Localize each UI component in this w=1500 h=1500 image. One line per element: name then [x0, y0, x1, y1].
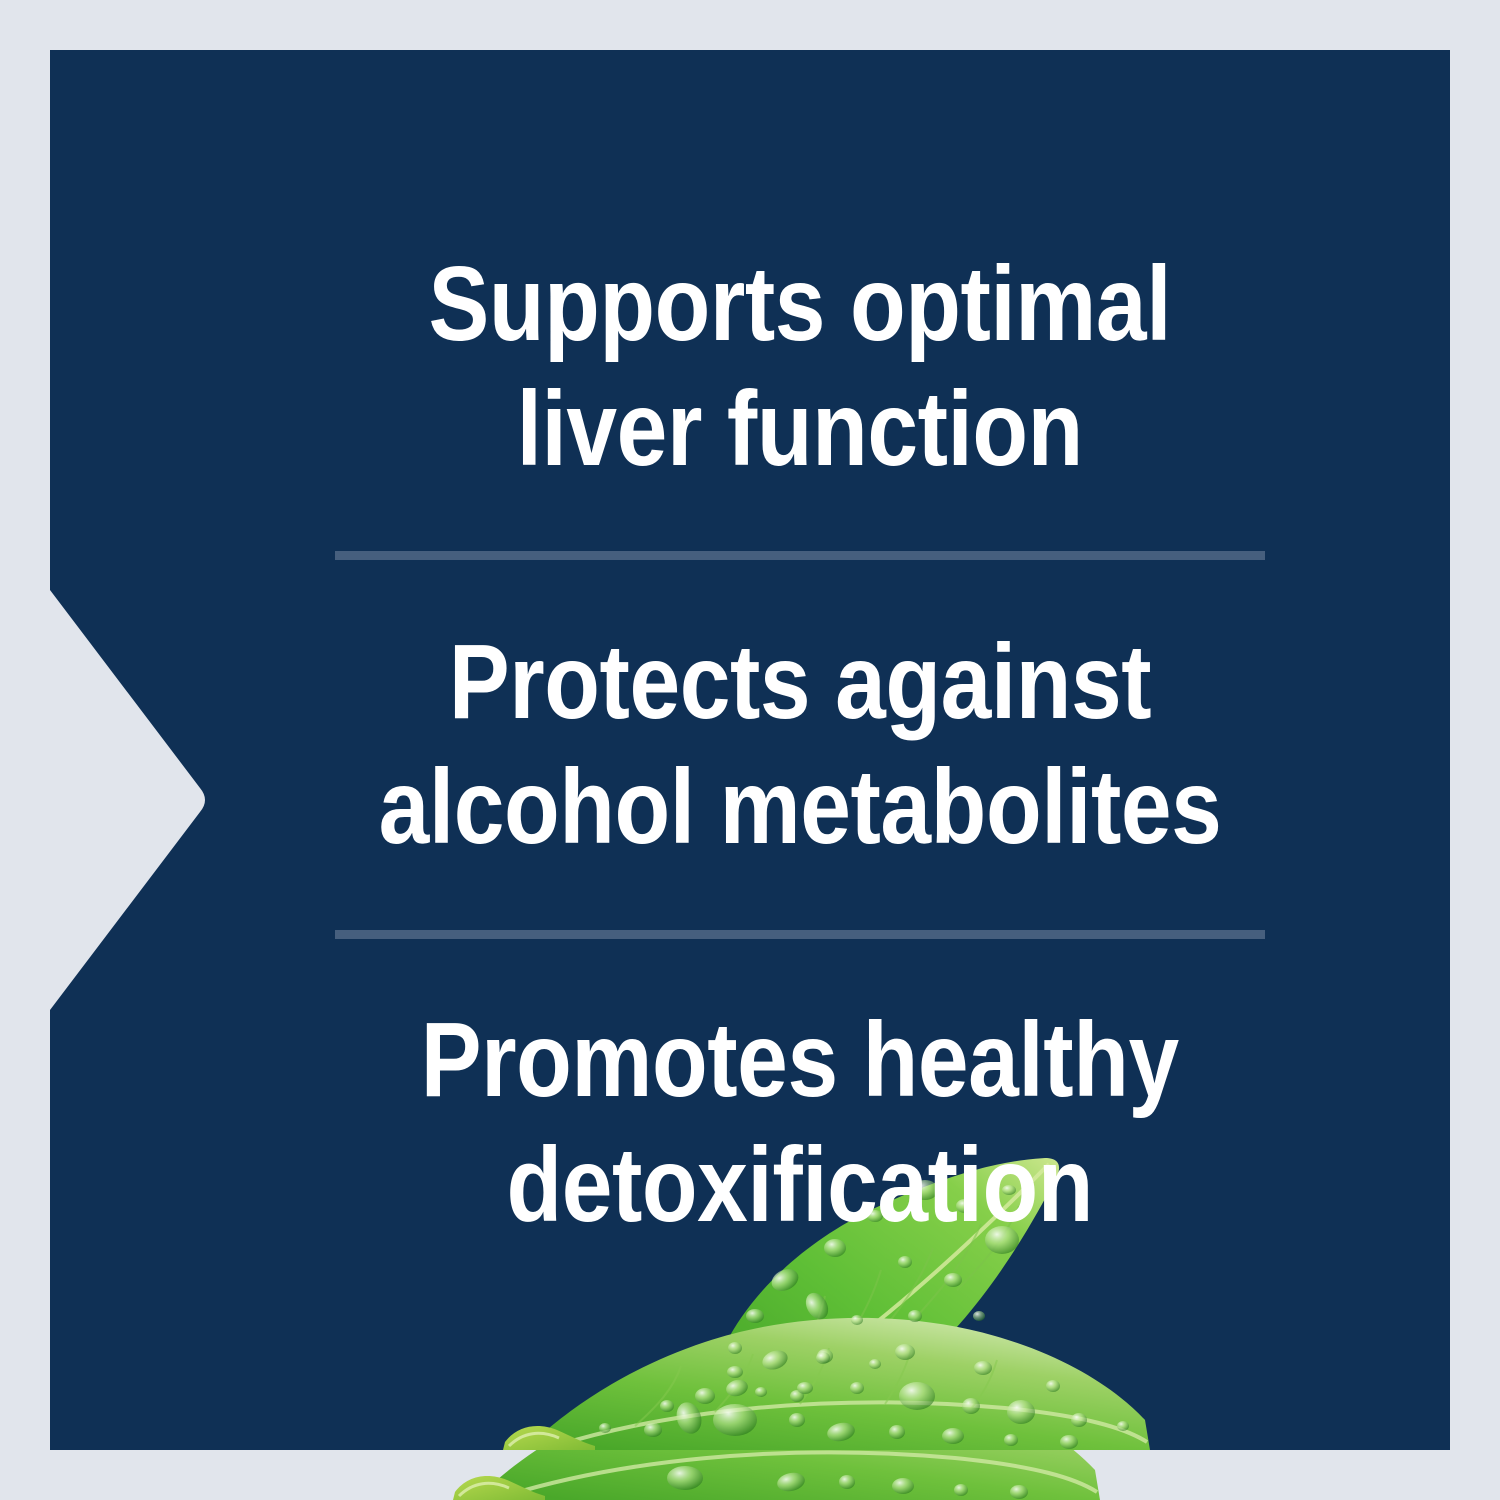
benefit-divider-1 [335, 551, 1265, 560]
promo-panel-root: Supports optimal liver function Protects… [0, 0, 1500, 1500]
benefit-alcohol-text: Protects against alcohol metabolites [379, 620, 1222, 870]
benefit-divider-2 [335, 930, 1265, 939]
navy-content-panel: Supports optimal liver function Protects… [50, 50, 1450, 1450]
benefit-item-detox: Promotes healthy detoxification [210, 967, 1390, 1280]
bottom-light-strip [0, 1450, 1500, 1500]
benefit-item-liver: Supports optimal liver function [210, 210, 1390, 523]
benefits-list: Supports optimal liver function Protects… [100, 100, 1450, 1280]
benefit-item-alcohol: Protects against alcohol metabolites [210, 588, 1390, 901]
benefit-liver-text: Supports optimal liver function [429, 242, 1172, 492]
benefit-detox-text: Promotes healthy detoxification [421, 998, 1179, 1248]
